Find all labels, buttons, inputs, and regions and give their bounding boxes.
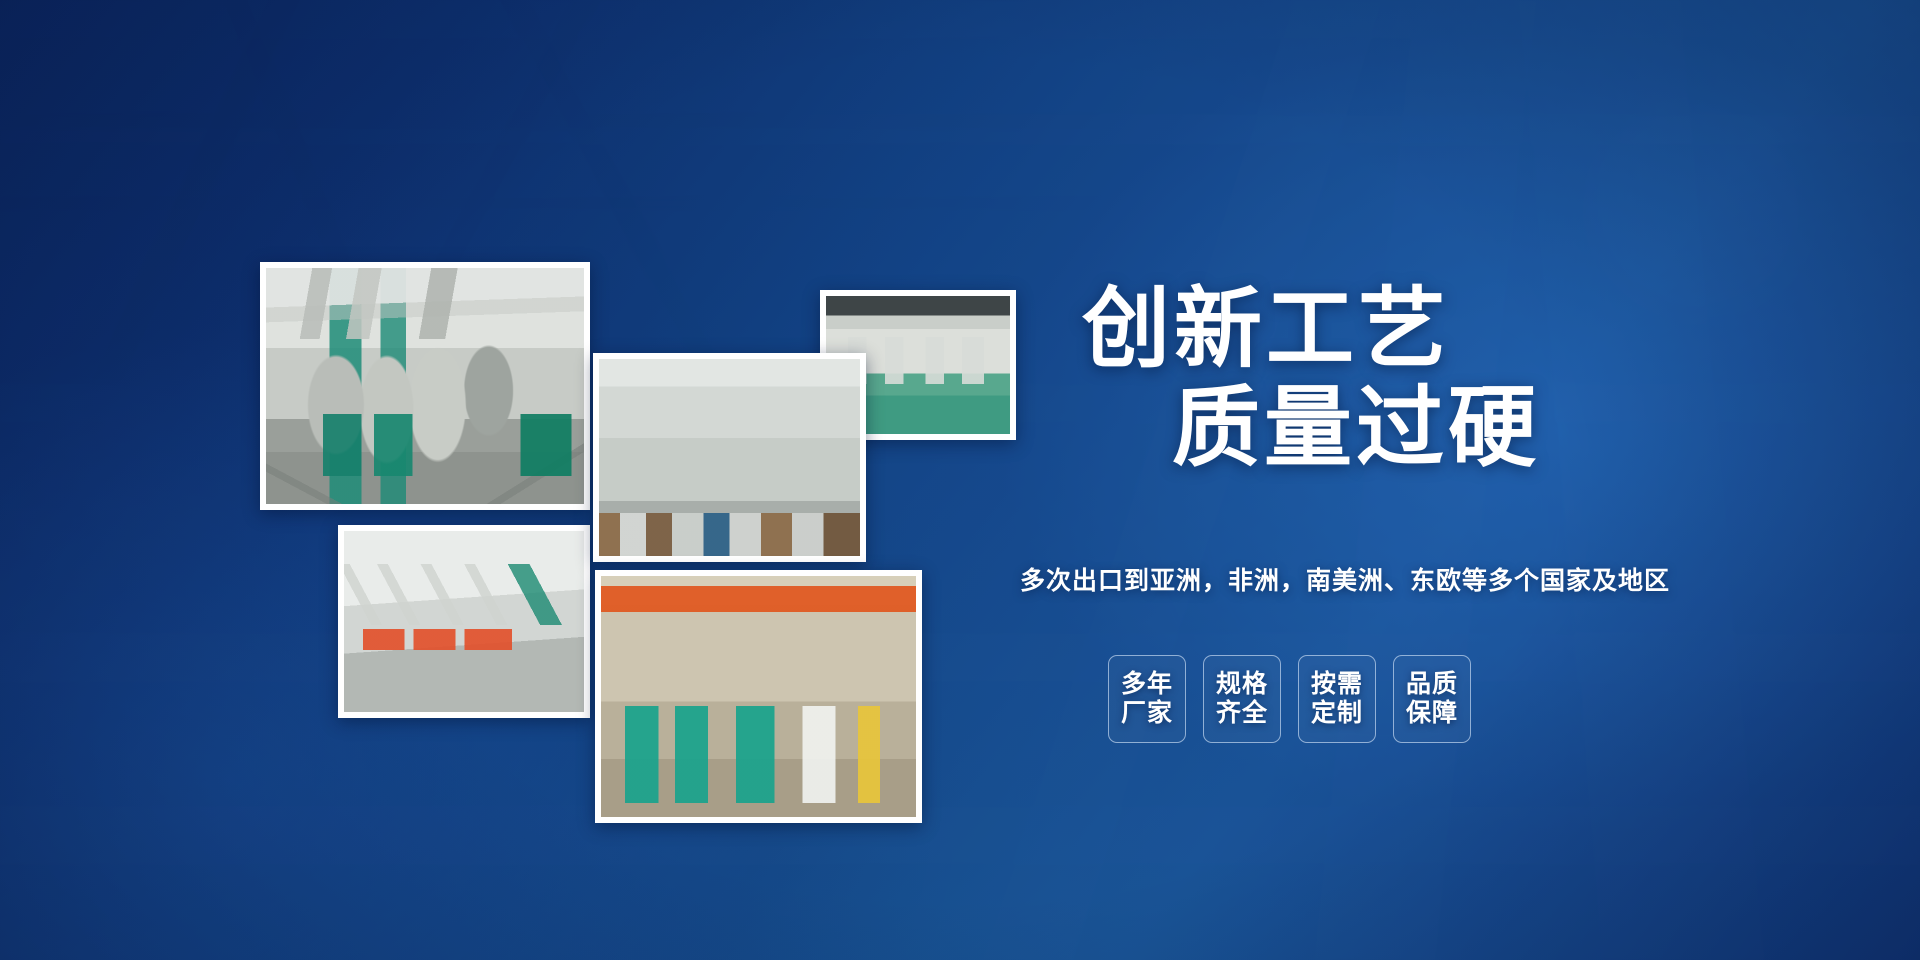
photo-image-2	[344, 531, 584, 712]
photo-collage	[0, 0, 1000, 960]
badge-years-manufacturer[interactable]: 多年 厂家	[1108, 655, 1186, 743]
headline: 创新工艺 质量过硬	[1020, 280, 1680, 477]
badge-custom-on-demand[interactable]: 按需 定制	[1298, 655, 1376, 743]
badge-line-1: 多年	[1121, 670, 1173, 700]
collage-photo-orange-beam-mill[interactable]	[595, 570, 922, 823]
badge-line-1: 规格	[1216, 670, 1268, 700]
badge-line-2: 保障	[1406, 699, 1458, 729]
photo-image-5	[601, 576, 916, 817]
badge-line-1: 按需	[1311, 670, 1363, 700]
headline-line-2: 质量过硬	[1020, 379, 1680, 478]
collage-photo-steel-frame-plant[interactable]	[593, 353, 866, 562]
collage-photo-conveyor-line[interactable]	[338, 525, 590, 718]
headline-line-1: 创新工艺	[1020, 280, 1680, 379]
collage-photo-grain-milling-line[interactable]	[260, 262, 590, 510]
badge-line-2: 定制	[1311, 699, 1363, 729]
feature-badges: 多年 厂家 规格 齐全 按需 定制 品质 保障	[1108, 655, 1471, 743]
badge-line-2: 厂家	[1121, 699, 1173, 729]
photo-image-4	[599, 359, 860, 556]
subtitle: 多次出口到亚洲，非洲，南美洲、东欧等多个国家及地区	[1020, 565, 1880, 598]
badge-line-1: 品质	[1406, 670, 1458, 700]
banner-copy: 创新工艺 质量过硬 多次出口到亚洲，非洲，南美洲、东欧等多个国家及地区 多年 厂…	[1020, 0, 1920, 960]
badge-quality-assurance[interactable]: 品质 保障	[1393, 655, 1471, 743]
badge-line-2: 齐全	[1216, 699, 1268, 729]
promo-banner: 创新工艺 质量过硬 多次出口到亚洲，非洲，南美洲、东欧等多个国家及地区 多年 厂…	[0, 0, 1920, 960]
badge-full-specifications[interactable]: 规格 齐全	[1203, 655, 1281, 743]
photo-image-1	[266, 268, 584, 504]
